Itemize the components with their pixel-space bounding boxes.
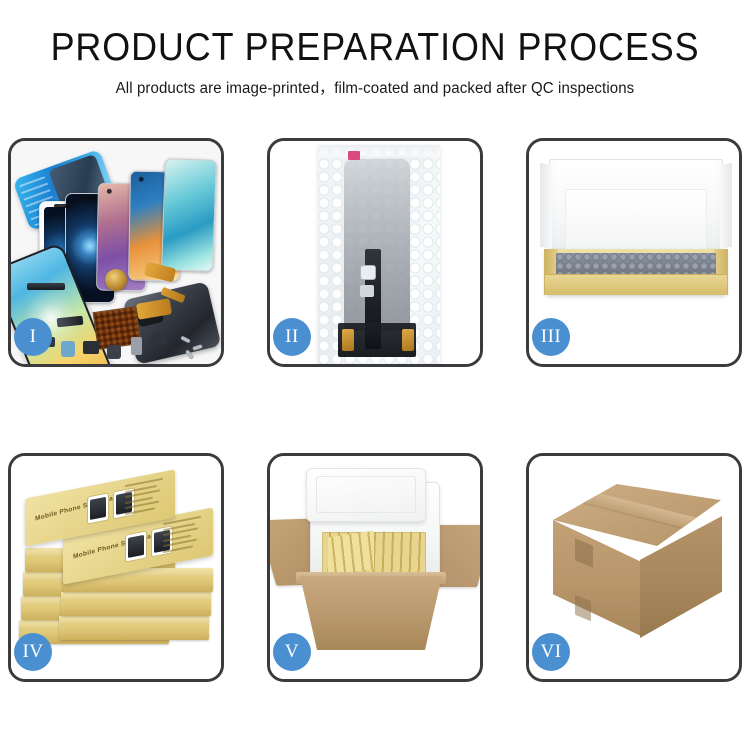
lcd-connector-icon — [360, 285, 374, 297]
punch-hole-camera-icon — [139, 177, 144, 182]
small-part-icon — [107, 345, 121, 359]
notch-icon — [82, 196, 98, 200]
box-stack: Mobile Phone Spare Parts Mobile Phone Sp… — [19, 470, 219, 658]
gold-box-layer — [59, 616, 209, 640]
carton-body-icon — [300, 576, 442, 650]
gold-tray-icon — [545, 249, 727, 295]
gold-box-layer — [61, 592, 211, 616]
box-checklist-icon — [125, 477, 169, 519]
process-step-panel-5: V — [267, 453, 483, 682]
box-label-text: Mobile Phone Spare Parts — [35, 493, 123, 523]
small-part-icon — [131, 337, 142, 355]
notch-icon — [54, 204, 70, 208]
gold-contact-icon — [342, 329, 354, 351]
tray-front-panel-icon — [545, 274, 727, 295]
page-header: PRODUCT PREPARATION PROCESS All products… — [0, 26, 750, 99]
phone-teal-screen-icon — [161, 158, 217, 272]
small-part-icon — [83, 341, 99, 354]
step-badge-3: III — [532, 318, 570, 356]
small-part-icon — [151, 333, 167, 344]
process-step-panel-2: II — [267, 138, 483, 367]
box-label-text: Mobile Phone Spare Parts — [73, 531, 161, 561]
earpiece-speaker-icon — [27, 283, 65, 290]
process-step-panel-3: III — [526, 138, 742, 367]
screws-icon — [181, 338, 211, 360]
page-title: PRODUCT PREPARATION PROCESS — [30, 26, 720, 70]
box-phone-graphic-icon — [87, 492, 109, 524]
lcd-driver-ic-icon — [360, 265, 376, 280]
product-preparation-process-page: PRODUCT PREPARATION PROCESS All products… — [0, 0, 750, 750]
bag-seal-icon — [318, 145, 440, 157]
page-subtitle: All products are image-printed，film-coat… — [11, 79, 739, 99]
pink-label-tab-icon — [348, 151, 360, 160]
process-step-panel-1: I — [8, 138, 224, 367]
speaker-coil-icon — [105, 269, 127, 291]
gold-boxes-inside-icon — [328, 531, 374, 575]
step-badge-1: I — [14, 318, 52, 356]
step-badge-5: V — [273, 633, 311, 671]
small-part-icon — [61, 341, 75, 357]
gold-contact-icon — [402, 329, 414, 351]
step-badge-6: VI — [532, 633, 570, 671]
step-badge-2: II — [273, 318, 311, 356]
foam-sheet-icon — [565, 189, 707, 257]
box-checklist-icon — [163, 515, 207, 557]
punch-hole-camera-icon — [107, 189, 112, 194]
foam-lid-icon — [306, 468, 426, 522]
bubble-wrap-bag-icon — [318, 145, 440, 364]
process-steps-grid: I II — [8, 138, 742, 682]
process-step-panel-4: Mobile Phone Spare Parts Mobile Phone Sp… — [8, 453, 224, 682]
step-badge-4: IV — [14, 633, 52, 671]
process-step-panel-6: VI — [526, 453, 742, 682]
box-phone-graphic-icon — [125, 530, 147, 562]
